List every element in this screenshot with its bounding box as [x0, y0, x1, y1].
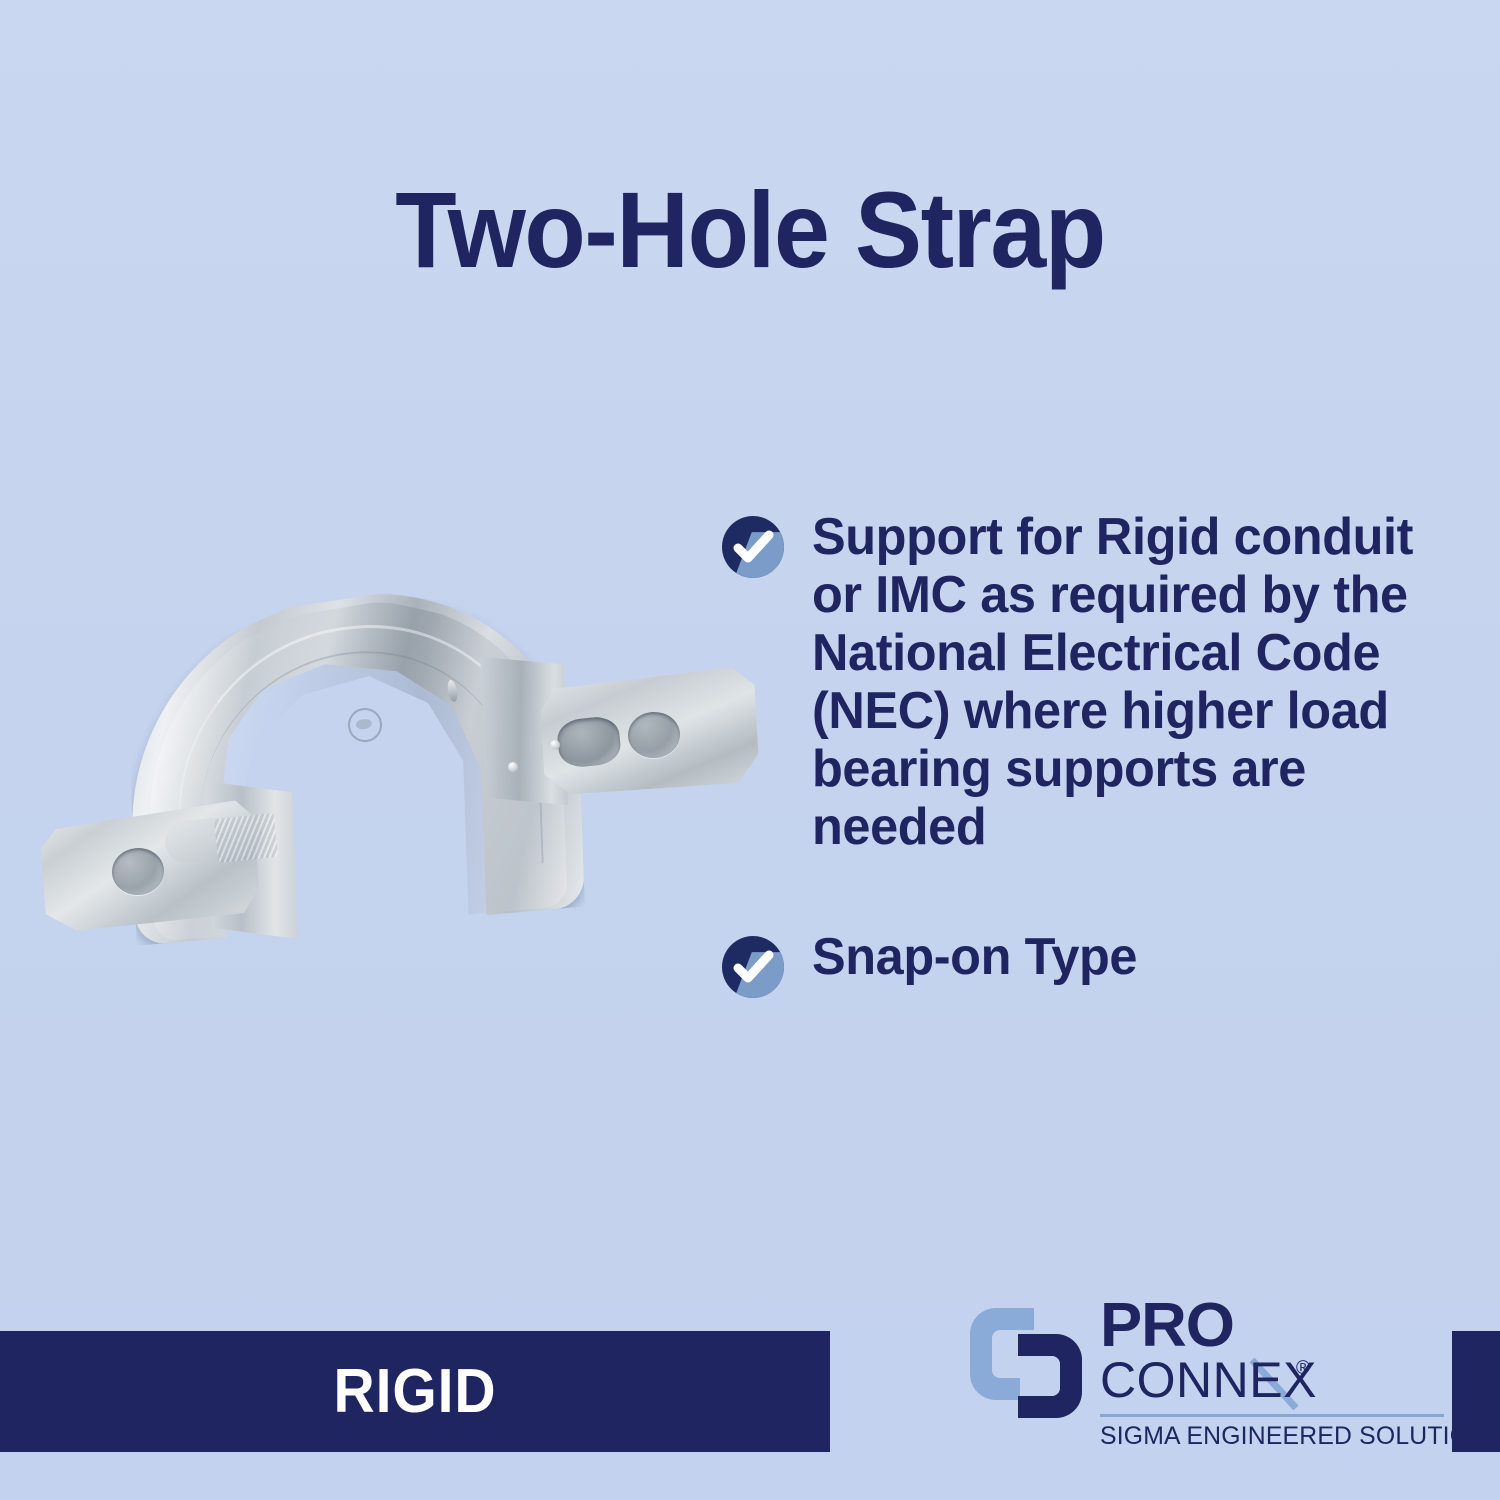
strap-knurling [214, 813, 278, 863]
category-banner-label: RIGID [33, 1331, 797, 1452]
brand-name-secondary: CONNEX [1100, 1354, 1317, 1406]
list-item: Support for Rigid conduit or IMC as requ… [722, 508, 1482, 856]
brand-wordmark: PRO CONNEX ® SIGMA ENGINEERED SOLUTIONS [1100, 1296, 1332, 1412]
feature-text: Support for Rigid conduit or IMC as requ… [812, 508, 1462, 856]
strap-rivet [550, 740, 560, 750]
brand-tagline: SIGMA ENGINEERED SOLUTIONS [1100, 1422, 1448, 1451]
brand-name-primary: PRO [1100, 1296, 1337, 1356]
page-title: Two-Hole Strap [53, 176, 1448, 284]
registered-trademark-icon: ® [1296, 1358, 1310, 1380]
strap-rivet [508, 762, 518, 772]
logo-divider [1100, 1414, 1444, 1417]
proconnex-mark-icon [962, 1300, 1090, 1426]
feature-list: Support for Rigid conduit or IMC as requ… [722, 508, 1482, 856]
brand-logo: PRO CONNEX ® SIGMA ENGINEERED SOLUTIONS [962, 1296, 1332, 1466]
product-marketing-card: Two-Hole Strap Support for Rigid c [0, 0, 1500, 1500]
product-image [30, 590, 760, 1010]
category-banner: RIGID [0, 1331, 830, 1452]
check-circle-icon [722, 516, 784, 578]
brand-name-secondary-row: CONNEX ® [1100, 1356, 1332, 1412]
check-circle-icon [722, 936, 784, 998]
feature-text: Snap-on Type [812, 928, 1137, 986]
list-item: Snap-on Type [722, 928, 1147, 986]
